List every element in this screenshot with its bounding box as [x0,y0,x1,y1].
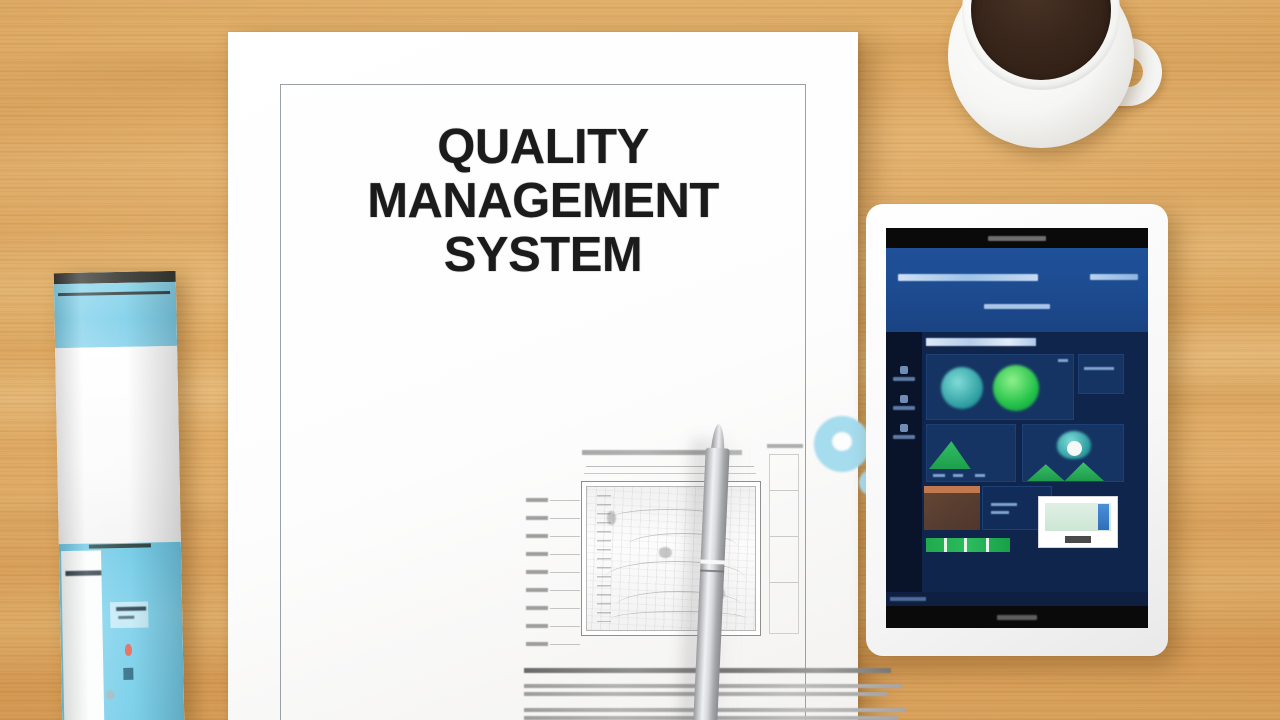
diagram-axis-label [526,606,548,610]
tile-side-metric[interactable] [1078,354,1124,394]
diagram-leader-line [550,608,580,609]
diagram-leader-line [550,572,580,573]
tablet-screen[interactable] [886,228,1148,628]
sidebar-item-label [893,377,915,381]
terrain-shape [929,435,1009,469]
dashboard-content [922,332,1148,592]
dashboard-sidebar[interactable] [886,332,922,592]
diagram-leader-line [550,626,580,627]
decorative-circle-large [814,416,870,472]
bar-separator [986,538,989,552]
tablet-footer-bar [886,606,1148,628]
diagram-axis-label [526,552,548,556]
rolled-brochure[interactable] [54,271,185,720]
diagram-leader-line [550,590,580,591]
diagram-side-box [769,454,799,634]
tile-sphere-chart[interactable] [926,354,1074,420]
document-preview-popup[interactable] [1038,496,1118,548]
diagram-axis-row [524,642,581,650]
dashboard-subtitle [984,304,1050,309]
diagram-leader-line [550,554,580,555]
pen-band [700,559,724,564]
diagram-axis-label [526,516,548,520]
dashboard-header [886,248,1148,332]
diagram-leader-line [550,500,580,501]
bar-separator [964,538,967,552]
pen-band [700,569,724,572]
sidebar-item-label [893,406,915,410]
diagram-side-tick [769,582,799,583]
tile-terrain-right[interactable] [1022,424,1124,482]
bar-chart-bars [926,538,1010,552]
technical-diagram [524,436,804,651]
diagram-side-tick [769,536,799,537]
diagram-axis-label [526,588,548,592]
footer-label [997,615,1037,620]
dashboard-status-row [886,592,1148,606]
diagram-axis-row [524,624,581,632]
tile-label [1084,367,1114,370]
dashboard-body [886,332,1148,592]
highlight-dot [1067,441,1082,456]
title-line-2: MANAGEMENT [280,174,806,228]
diagram-axis-row [524,552,581,560]
diagram-axis-row [524,534,581,542]
settings-icon [900,424,908,432]
tile-label [991,511,1009,514]
dashboard-title [898,274,1038,281]
diagram-side-caption [767,444,803,448]
coffee-mug[interactable] [938,0,1170,184]
diagram-leader-line [550,644,580,645]
diagram-side-panel [767,444,804,636]
status-text [890,597,926,601]
diagram-axis-row [524,570,581,578]
tile-label [933,474,945,477]
diagram-side-tick [769,490,799,491]
sidebar-item-label [893,435,915,439]
diagram-axis-row [524,588,581,596]
report-icon [900,395,908,403]
page-title: QUALITY MANAGEMENT SYSTEM [280,120,806,282]
diagram-axis-label [526,534,548,538]
teal-sphere [941,367,983,409]
quality-management-document[interactable]: QUALITY MANAGEMENT SYSTEM [228,32,858,720]
diagram-marker [607,511,616,525]
diagram-marker [659,547,672,558]
green-bar-chart[interactable] [926,538,1010,552]
terrain-shape [1027,457,1121,481]
diagram-axis-label [526,498,548,502]
diagram-leader-line [550,536,580,537]
status-bar-title [988,236,1046,241]
diagram-axis-row [524,516,581,524]
diagram-axis-row [524,498,581,506]
dashboard-icon [900,366,908,374]
tablet-status-bar [886,228,1148,248]
diagram-axis-label [526,642,548,646]
tile-label [975,474,985,477]
popup-action-button[interactable] [1065,536,1091,543]
tile-brown-panel[interactable] [924,486,980,530]
sidebar-item-reports[interactable] [886,395,922,410]
green-sphere [993,365,1039,411]
tile-label [991,503,1017,506]
title-line-3: SYSTEM [280,228,806,282]
brochure-roll-shading [54,271,185,720]
breadcrumb [926,338,1036,346]
diagram-axis-label [526,570,548,574]
tablet-device[interactable] [866,204,1168,656]
title-line-1: QUALITY [280,120,806,174]
tile-terrain-left[interactable] [926,424,1016,482]
tile-label [953,474,963,477]
tile-badge [1058,359,1068,362]
diagram-leader-line [550,518,580,519]
sidebar-item-settings[interactable] [886,424,922,439]
diagram-axis-label [526,624,548,628]
diagram-axis-row [524,606,581,614]
tile-accent-bar [924,486,980,493]
dashboard-meta [1090,274,1138,280]
bar-separator [944,538,947,552]
popup-side-bar [1098,504,1109,530]
sidebar-item-dashboard[interactable] [886,366,922,381]
